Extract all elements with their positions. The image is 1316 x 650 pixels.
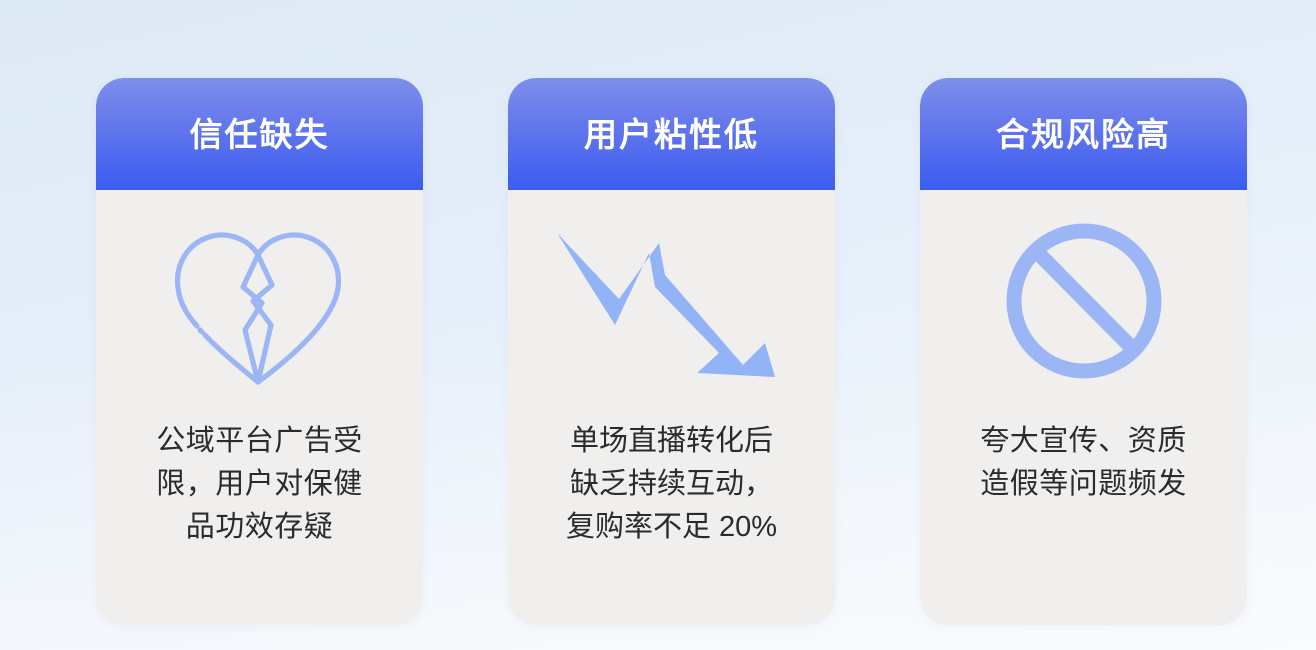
- broken-heart-icon: [165, 225, 355, 385]
- card-title: 信任缺失: [190, 118, 330, 151]
- pain-point-card-retention[interactable]: 用户粘性低 单场直播转化后 缺乏持续互动， 复购率不足 20%: [508, 78, 835, 625]
- card-header-compliance: 合规风险高: [920, 78, 1247, 190]
- pain-point-card-compliance[interactable]: 合规风险高 夸大宣传、资质 造假等问题频发: [920, 78, 1247, 625]
- trend-arrow-shape: [557, 233, 775, 377]
- icon-container: [96, 190, 423, 420]
- pain-point-card-trust[interactable]: 信任缺失: [96, 78, 423, 625]
- card-body-compliance: 夸大宣传、资质 造假等问题频发: [920, 190, 1247, 625]
- card-description: 公域平台广告受 限，用户对保健 品功效存疑: [130, 420, 389, 549]
- card-header-retention: 用户粘性低: [508, 78, 835, 190]
- icon-container: [508, 190, 835, 420]
- slide-canvas: 信任缺失: [0, 0, 1316, 650]
- card-body-trust: 公域平台广告受 限，用户对保健 品功效存疑: [96, 190, 423, 625]
- card-title: 用户粘性低: [584, 118, 759, 151]
- pain-point-card-group: 信任缺失: [96, 78, 1247, 625]
- card-title: 合规风险高: [996, 118, 1171, 151]
- icon-container: [920, 190, 1247, 412]
- card-body-retention: 单场直播转化后 缺乏持续互动， 复购率不足 20%: [508, 190, 835, 625]
- card-description: 夸大宣传、资质 造假等问题频发: [954, 420, 1213, 506]
- card-description: 单场直播转化后 缺乏持续互动， 复购率不足 20%: [540, 420, 803, 549]
- downward-trend-arrow-icon: [547, 225, 797, 385]
- prohibition-sign-icon: [1000, 217, 1168, 385]
- card-header-trust: 信任缺失: [96, 78, 423, 190]
